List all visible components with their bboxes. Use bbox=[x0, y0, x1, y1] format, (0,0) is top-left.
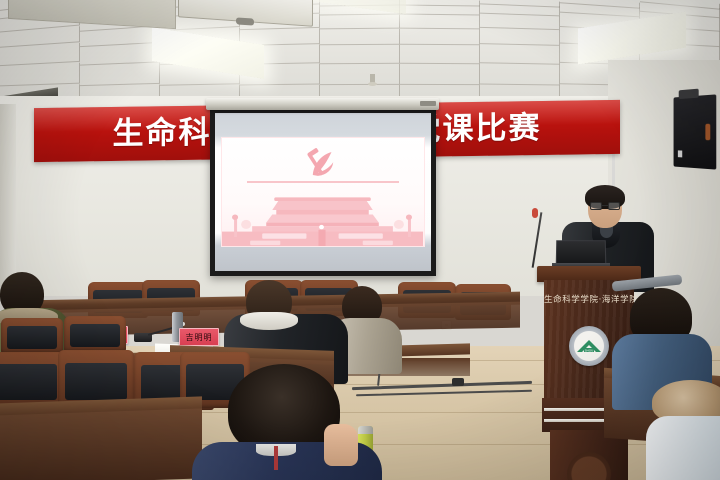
wall-speaker-icon bbox=[674, 94, 717, 169]
projection-screen bbox=[210, 108, 436, 276]
svg-text:SHOU: SHOU bbox=[585, 348, 594, 352]
conference-room-photo: 生命科学学院学生微党课比赛 bbox=[0, 0, 720, 480]
screen-surface bbox=[215, 113, 431, 271]
attendee-navy-jacket bbox=[206, 364, 366, 480]
screen-roller-housing[interactable] bbox=[206, 98, 439, 110]
speaker-driver bbox=[705, 124, 710, 141]
laptop-screen bbox=[556, 240, 607, 264]
roller-endcap bbox=[420, 101, 436, 106]
chair[interactable] bbox=[64, 316, 126, 352]
chair[interactable] bbox=[0, 352, 64, 408]
eyeglasses-icon bbox=[590, 202, 620, 210]
front-table bbox=[0, 408, 202, 480]
speaker-led bbox=[678, 150, 682, 157]
hammer-and-sickle-emblem-icon bbox=[306, 147, 340, 181]
attendee-white-fur-coat bbox=[656, 380, 720, 480]
left-wall-edge bbox=[0, 104, 16, 294]
projector-lens-icon bbox=[236, 17, 254, 25]
presentation-slide bbox=[221, 137, 424, 248]
university-crest-icon: SHOU bbox=[569, 326, 609, 366]
crest-mark: SHOU bbox=[576, 338, 602, 354]
tiananmen-gate-illustration bbox=[222, 183, 423, 246]
chair[interactable] bbox=[1, 318, 63, 354]
nameplate: 吉明明 bbox=[179, 328, 219, 346]
cable-connector bbox=[452, 378, 464, 386]
podium-microphone-head bbox=[532, 208, 538, 218]
nameplate-text: 吉明明 bbox=[186, 332, 213, 343]
podium-base-medallion bbox=[567, 452, 611, 480]
fire-sprinkler-icon bbox=[370, 74, 375, 84]
speaker-mount bbox=[679, 89, 699, 99]
